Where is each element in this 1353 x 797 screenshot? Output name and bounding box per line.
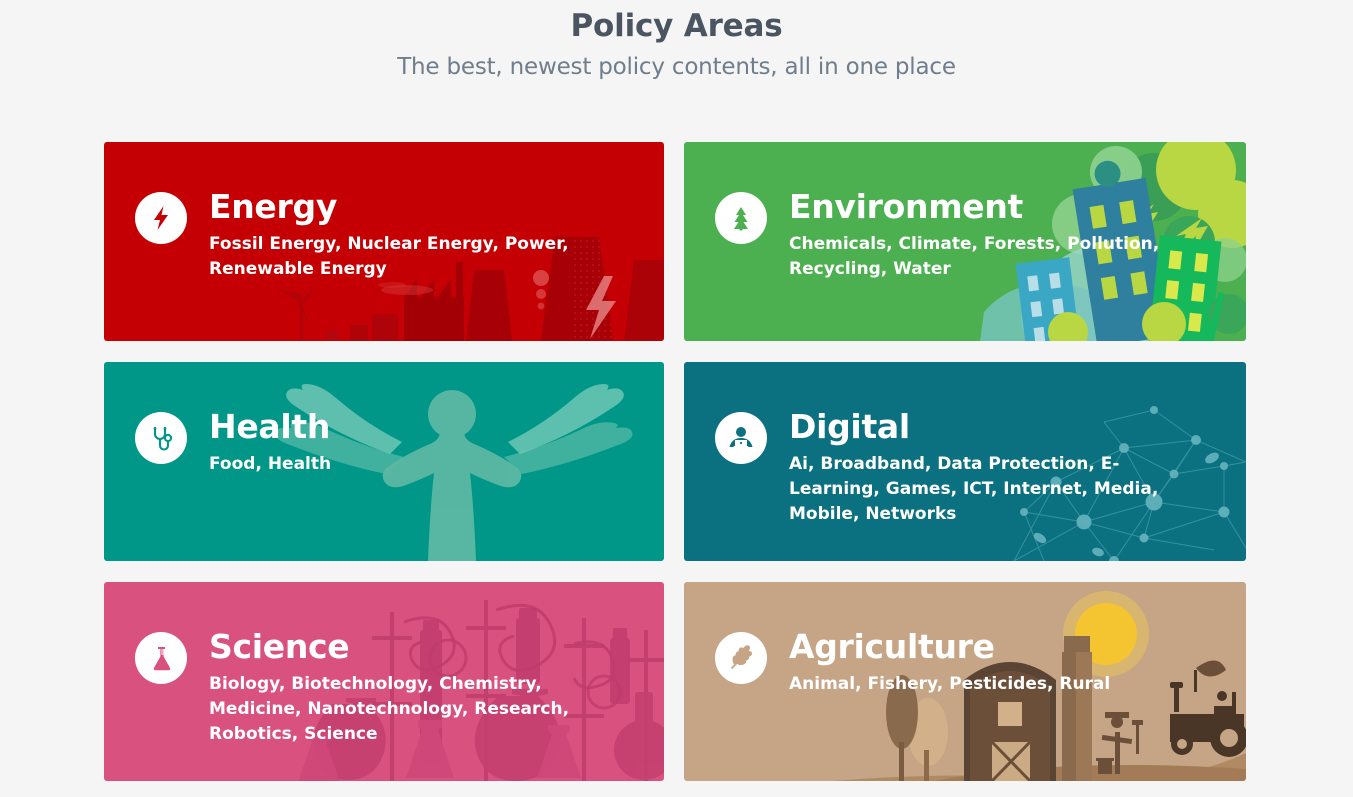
card-text-digital: Digital Ai, Broadband, Data Protection, … [789, 408, 1209, 527]
policy-card-environment[interactable]: Environment Chemicals, Climate, Forests,… [684, 142, 1246, 341]
card-title-science: Science [209, 628, 629, 666]
card-tags-environment: Chemicals, Climate, Forests, Pollution, … [789, 232, 1189, 282]
stethoscope-icon [135, 412, 187, 464]
pine-tree-icon [715, 192, 767, 244]
card-title-energy: Energy [209, 188, 609, 226]
policy-card-agriculture[interactable]: Agriculture Animal, Fishery, Pesticides,… [684, 582, 1246, 781]
policy-card-science[interactable]: Science Biology, Biotechnology, Chemistr… [104, 582, 664, 781]
card-text-health: Health Food, Health [209, 408, 331, 477]
policy-areas-page: Policy Areas The best, newest policy con… [0, 0, 1353, 797]
card-tags-science: Biology, Biotechnology, Chemistry, Medic… [209, 672, 629, 747]
wheat-icon [715, 632, 767, 684]
page-title: Policy Areas [0, 4, 1353, 48]
card-title-agriculture: Agriculture [789, 628, 1110, 666]
card-text-science: Science Biology, Biotechnology, Chemistr… [209, 628, 629, 747]
person-laptop-icon [715, 412, 767, 464]
page-header: Policy Areas The best, newest policy con… [0, 0, 1353, 86]
card-title-environment: Environment [789, 188, 1189, 226]
card-tags-digital: Ai, Broadband, Data Protection, E-Learni… [789, 452, 1209, 527]
policy-area-card-grid: Energy Fossil Energy, Nuclear Energy, Po… [104, 142, 1246, 781]
card-text-energy: Energy Fossil Energy, Nuclear Energy, Po… [209, 188, 609, 282]
lightning-bolt-icon [135, 192, 187, 244]
card-title-digital: Digital [789, 408, 1209, 446]
policy-card-energy[interactable]: Energy Fossil Energy, Nuclear Energy, Po… [104, 142, 664, 341]
flask-icon [135, 632, 187, 684]
policy-card-health[interactable]: Health Food, Health [104, 362, 664, 561]
card-text-agriculture: Agriculture Animal, Fishery, Pesticides,… [789, 628, 1110, 697]
card-tags-energy: Fossil Energy, Nuclear Energy, Power, Re… [209, 232, 609, 282]
card-title-health: Health [209, 408, 331, 446]
card-text-environment: Environment Chemicals, Climate, Forests,… [789, 188, 1189, 282]
card-tags-agriculture: Animal, Fishery, Pesticides, Rural [789, 672, 1110, 697]
policy-card-digital[interactable]: Digital Ai, Broadband, Data Protection, … [684, 362, 1246, 561]
card-tags-health: Food, Health [209, 452, 331, 477]
page-subtitle: The best, newest policy contents, all in… [0, 48, 1353, 86]
